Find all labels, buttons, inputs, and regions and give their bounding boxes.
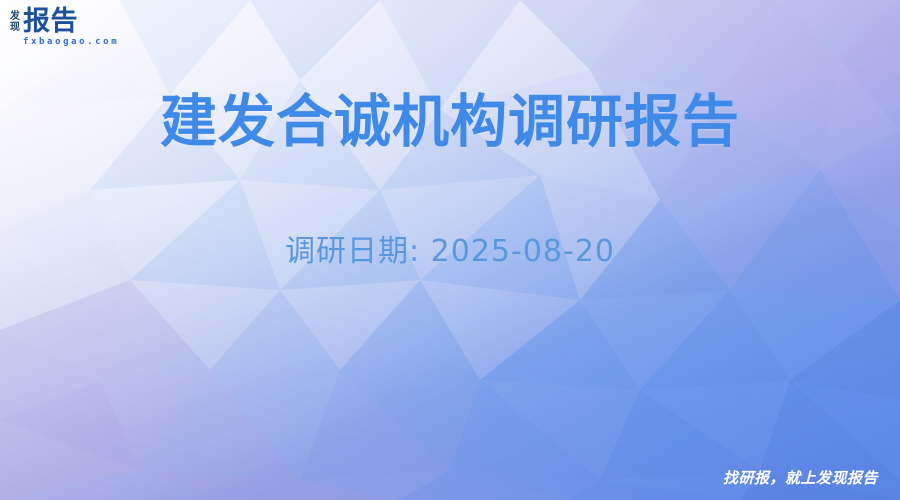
report-cover-slide: 发 现 报告 fxbaogao.com 建发合诚机构调研报告 调研日期: 202… xyxy=(0,0,900,500)
logo-wordmark: 报告 xyxy=(23,8,119,36)
survey-date-subtitle: 调研日期: 2025-08-20 xyxy=(0,231,900,273)
title-block: 建发合诚机构调研报告 xyxy=(0,86,900,158)
footer-slogan: 找研报，就上发现报告 xyxy=(723,468,878,488)
logo-char-xian: 现 xyxy=(10,22,20,33)
page-title: 建发合诚机构调研报告 xyxy=(0,86,900,158)
site-logo[interactable]: 发 现 报告 fxbaogao.com xyxy=(10,8,119,48)
logo-char-fa: 发 xyxy=(10,11,20,22)
logo-stacked-chars: 发 现 xyxy=(10,11,20,33)
logo-url: fxbaogao.com xyxy=(23,37,119,48)
logo-right-group: 报告 fxbaogao.com xyxy=(23,8,119,48)
